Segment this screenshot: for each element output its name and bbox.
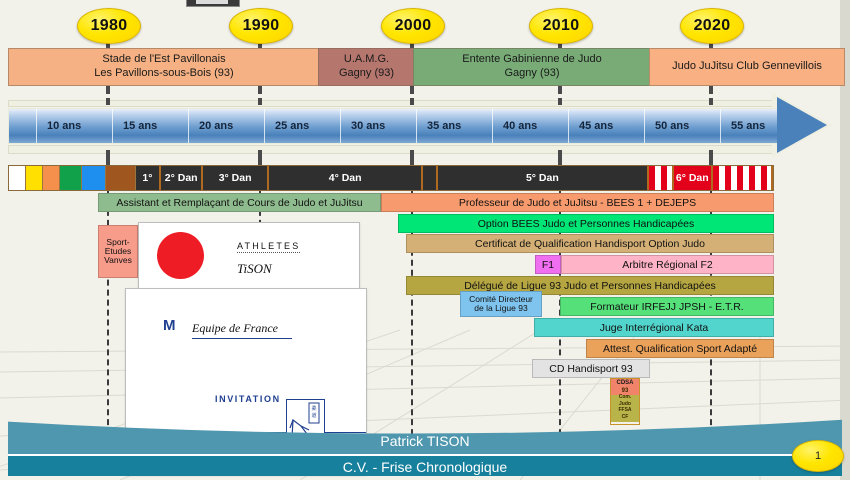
sport-etudes-vanves-block: Sport- Etudes Vanves	[98, 225, 138, 278]
year-tick	[709, 98, 713, 105]
qualification-bar: Juge Interrégional Kata	[534, 318, 774, 337]
scale-cell-10-ans: 10 ans	[37, 109, 113, 143]
cdsa-line1: CDSA	[611, 379, 639, 388]
club-name-line1: U.A.M.G.	[344, 53, 389, 67]
athletes-heading: ATHLETES	[237, 241, 300, 253]
qualification-bar: Professeur de Judo et JuJitsu - BEES 1 +…	[381, 193, 774, 212]
scale-rail-bottom	[8, 145, 780, 154]
ffjda-invitation-label: INVITATION	[215, 394, 281, 404]
qualification-bar: F1	[535, 255, 561, 274]
qualification-bar: Formateur IRFEJJ JPSH - E.T.R.	[560, 297, 774, 316]
sport-etudes-line3: Vanves	[104, 256, 132, 265]
athletes-card: ATHLETES TiSON	[138, 222, 360, 290]
club-name-line2: Les Pavillons-sous-Bois (93)	[94, 67, 233, 81]
year-tick	[258, 86, 262, 94]
dan-rank-segment: 5° Dan	[438, 166, 650, 190]
belt-orange	[43, 166, 60, 190]
slide-canvas: 19801990200020102020 Stade de l'Est Pavi…	[0, 0, 850, 480]
year-tick	[106, 98, 110, 105]
dan-rank-segment	[713, 166, 773, 190]
dan-rank-segment	[423, 166, 437, 190]
qualification-bar: Arbitre Régional F2	[561, 255, 774, 274]
club-band: U.A.M.G.Gagny (93)	[318, 48, 415, 86]
scale-cell-35-ans: 35 ans	[417, 109, 493, 143]
qualification-bar: CD Handisport 93	[532, 359, 650, 378]
scale-rail-top	[8, 100, 780, 107]
club-band: Entente Gabinienne de JudoGagny (93)	[413, 48, 651, 86]
document-subtitle: C.V. - Frise Chronologique	[8, 454, 842, 476]
svg-text:柔: 柔	[311, 405, 316, 412]
year-bubble-1990: 1990	[229, 8, 293, 44]
club-band: Stade de l'Est PavillonaisLes Pavillons-…	[8, 48, 320, 86]
belt-marron	[106, 166, 136, 190]
year-tick	[410, 86, 414, 94]
club-name-line2: Gagny (93)	[339, 67, 394, 81]
belt-blanche	[9, 166, 26, 190]
scale-cell-20-ans: 20 ans	[189, 109, 265, 143]
belt-verte	[60, 166, 83, 190]
footer: Patrick TISON C.V. - Frise Chronologique	[8, 414, 842, 476]
qualification-bar: Comité Directeurde la Ligue 93	[460, 291, 542, 317]
page-number-badge: 1	[792, 440, 844, 472]
qualification-label-line2: de la Ligue 93	[474, 304, 527, 313]
year-tick	[410, 98, 414, 105]
dan-rank-segment: 4° Dan	[269, 166, 423, 190]
club-band: Judo JuJitsu Club Gennevillois	[649, 48, 845, 86]
age-scale-bar: 10 ans15 ans20 ans25 ans30 ans35 ans40 a…	[8, 108, 780, 144]
scale-cell-45-ans: 45 ans	[569, 109, 645, 143]
belt-bleue	[82, 166, 105, 190]
red-circle-logo-icon	[157, 232, 204, 279]
year-tick	[709, 86, 713, 94]
scale-cell-40-ans: 40 ans	[493, 109, 569, 143]
year-bubble-1980: 1980	[77, 8, 141, 44]
scale-arrow-head	[777, 97, 827, 153]
belt-jaune	[26, 166, 43, 190]
ffjda-prefix: M	[163, 317, 176, 334]
year-bubble-2000: 2000	[381, 8, 445, 44]
dan-rank-segment: 2° Dan	[161, 166, 203, 190]
scale-cell-30-ans: 30 ans	[341, 109, 417, 143]
scale-cell-50-ans: 50 ans	[645, 109, 721, 143]
club-name-line1: Judo JuJitsu Club Gennevillois	[672, 60, 822, 74]
qualification-bar: Certificat de Qualification Handisport O…	[406, 234, 774, 253]
ffjda-handwritten-name: Equipe de France	[192, 321, 292, 339]
year-tick	[106, 86, 110, 94]
year-tick	[258, 98, 262, 105]
author-name: Patrick TISON	[8, 430, 842, 452]
club-name-line1: Stade de l'Est Pavillonais	[102, 53, 225, 67]
scale-cell-25-ans: 25 ans	[265, 109, 341, 143]
dan-rank-segment: 6° Dan	[674, 166, 713, 190]
scale-cell-start	[9, 109, 37, 143]
qualification-bar: Assistant et Remplaçant de Cours de Judo…	[98, 193, 381, 212]
top-clipped-object-inner	[196, 0, 228, 4]
scale-cell-15-ans: 15 ans	[113, 109, 189, 143]
year-tick	[558, 86, 562, 94]
club-name-line2: Gagny (93)	[504, 67, 559, 81]
club-name-line1: Entente Gabinienne de Judo	[462, 53, 601, 67]
dan-rank-segment	[649, 166, 673, 190]
dan-rank-segment: 3° Dan	[203, 166, 269, 190]
qualification-bar: Attest. Qualification Sport Adapté	[586, 339, 774, 358]
athletes-signature: TiSON	[237, 261, 272, 277]
year-tick	[558, 98, 562, 105]
dan-rank-segment: 1°	[136, 166, 161, 190]
year-bubble-2010: 2010	[529, 8, 593, 44]
year-bubble-2020: 2020	[680, 8, 744, 44]
qualification-bar: Option BEES Judo et Personnes Handicapée…	[398, 214, 774, 233]
belt-dan-progression-bar: 1°2° Dan3° Dan4° Dan5° Dan6° Dan	[8, 165, 774, 191]
